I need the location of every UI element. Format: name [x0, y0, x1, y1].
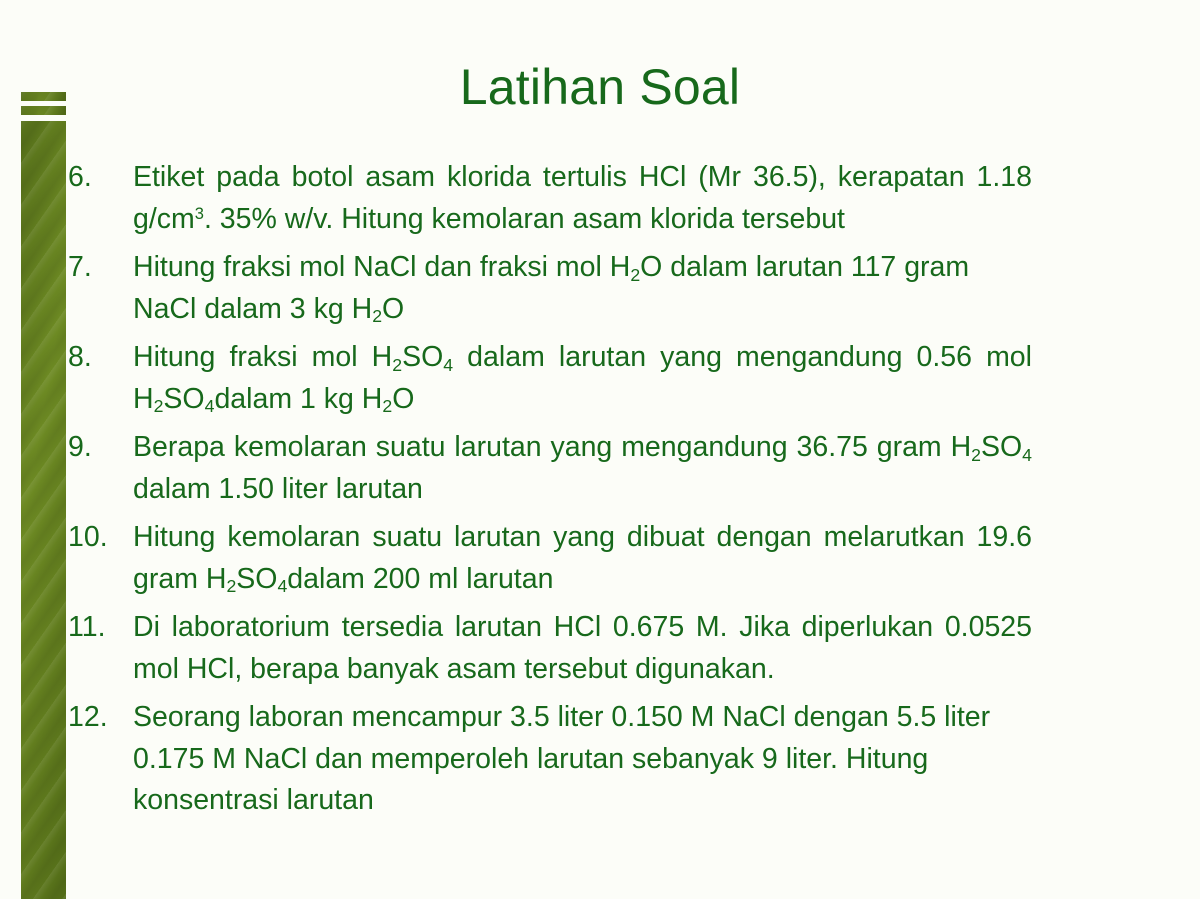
question-list: 6.Etiket pada botol asam klorida tertuli… — [68, 157, 1032, 829]
question-text: Di laboratorium tersedia larutan HCl 0.6… — [133, 607, 1032, 690]
question-number: 8. — [68, 337, 133, 379]
question-item: 8.Hitung fraksi mol H2SO4 dalam larutan … — [68, 337, 1032, 420]
question-item: 9.Berapa kemolaran suatu larutan yang me… — [68, 427, 1032, 510]
question-item: 7.Hitung fraksi mol NaCl dan fraksi mol … — [68, 247, 1032, 330]
question-text: Hitung fraksi mol H2SO4 dalam larutan ya… — [133, 337, 1032, 420]
question-item: 6.Etiket pada botol asam klorida tertuli… — [68, 157, 1032, 240]
slide-canvas: Latihan Soal 6.Etiket pada botol asam kl… — [0, 0, 1200, 899]
question-number: 9. — [68, 427, 133, 469]
question-number: 7. — [68, 247, 133, 289]
question-number: 10. — [68, 517, 133, 559]
question-text: Hitung fraksi mol NaCl dan fraksi mol H2… — [133, 247, 1032, 330]
question-item: 11.Di laboratorium tersedia larutan HCl … — [68, 607, 1032, 690]
question-text: Hitung kemolaran suatu larutan yang dibu… — [133, 517, 1032, 600]
ornament-vertical-bar — [21, 121, 66, 899]
question-text: Berapa kemolaran suatu larutan yang meng… — [133, 427, 1032, 510]
question-number: 12. — [68, 697, 133, 739]
question-number: 11. — [68, 607, 133, 649]
question-number: 6. — [68, 157, 133, 199]
question-item: 12.Seorang laboran mencampur 3.5 liter 0… — [68, 697, 1032, 822]
question-text: Seorang laboran mencampur 3.5 liter 0.15… — [133, 697, 1032, 822]
question-item: 10.Hitung kemolaran suatu larutan yang d… — [68, 517, 1032, 600]
slide-title: Latihan Soal — [0, 58, 1200, 116]
question-text: Etiket pada botol asam klorida tertulis … — [133, 157, 1032, 240]
